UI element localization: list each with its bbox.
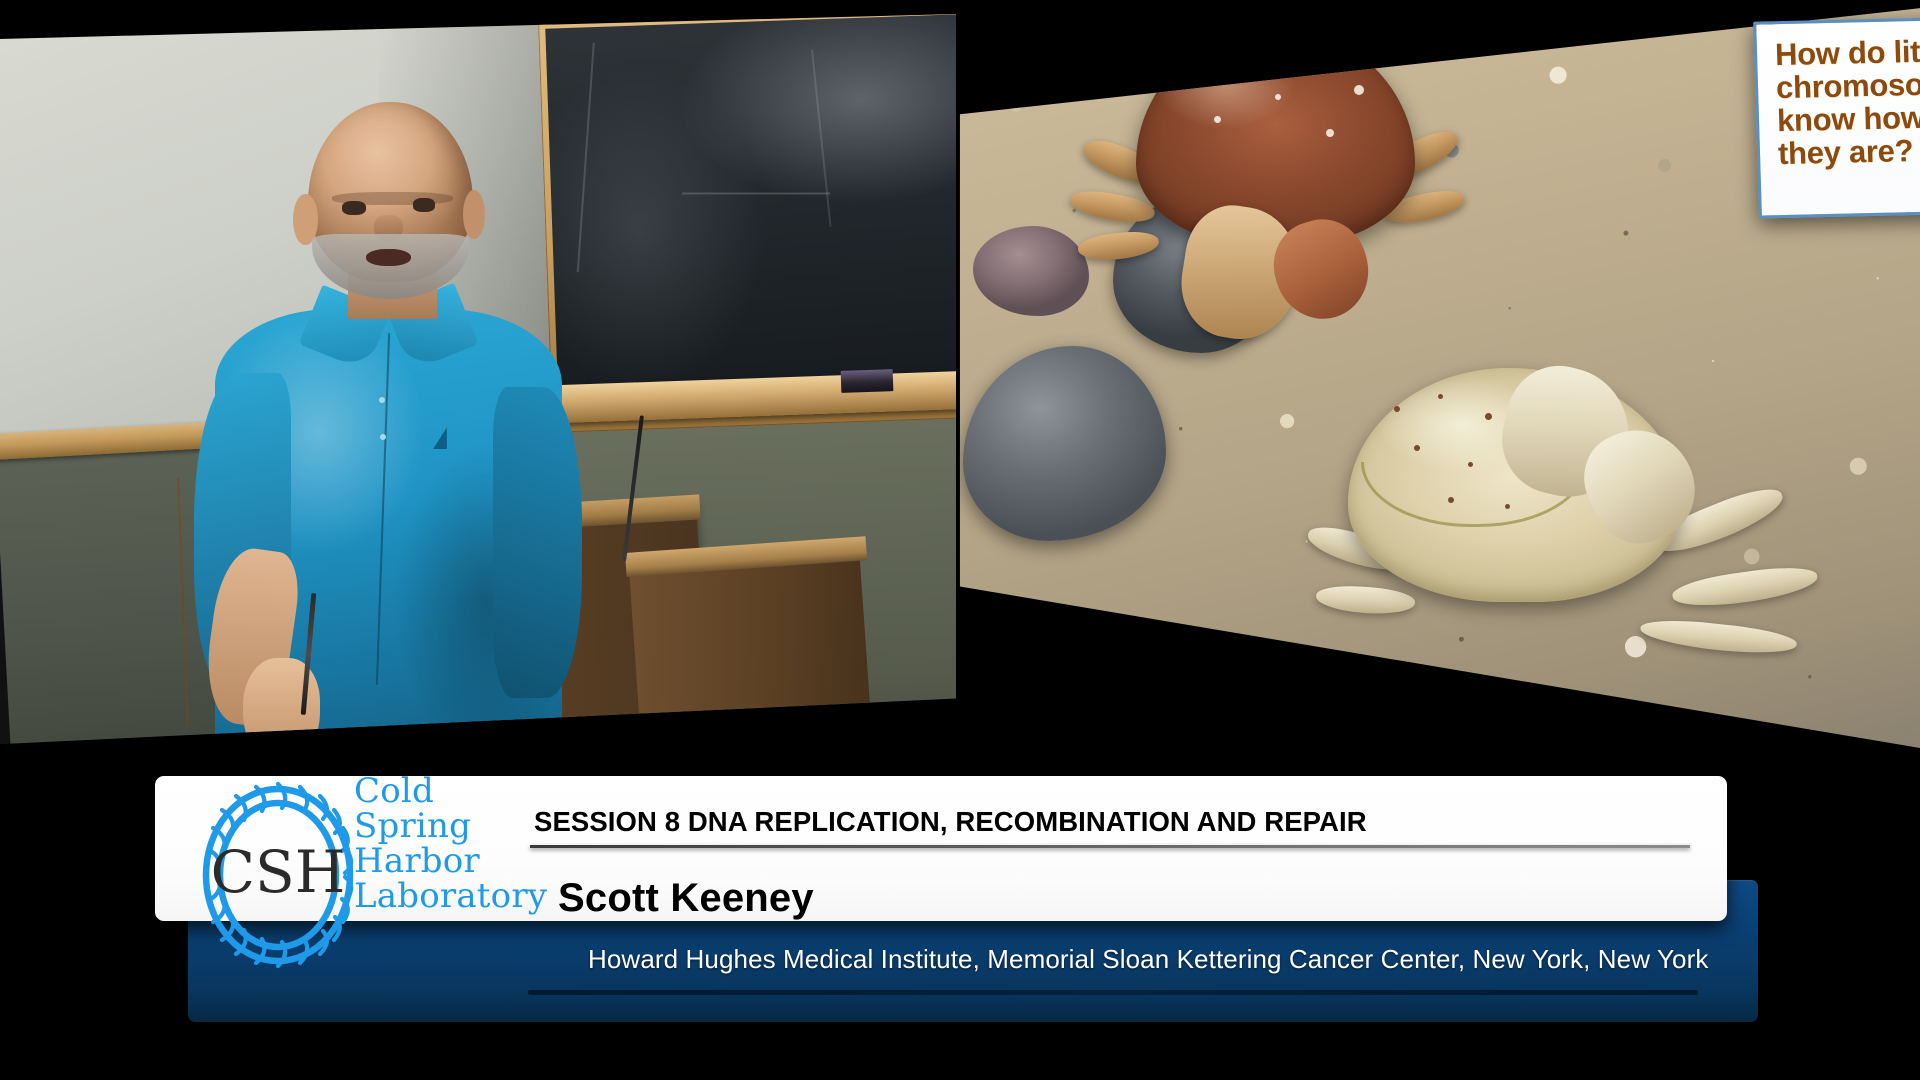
speaker-camera-panel[interactable] xyxy=(0,14,956,750)
presenter-mouth xyxy=(366,249,410,267)
slide-question-callout: How do litt chromoso know how they are? xyxy=(1753,14,1920,218)
speaker-affiliation: Howard Hughes Medical Institute, Memoria… xyxy=(588,944,1708,975)
presenter-figure xyxy=(186,102,590,750)
shell-bump xyxy=(1214,116,1221,123)
crab-leg xyxy=(1315,583,1416,616)
crab-leg xyxy=(1670,561,1819,611)
shell-spot xyxy=(1485,413,1492,420)
cshl-wordmark: Cold Spring Harbor Laboratory xyxy=(354,774,524,914)
lecture-hall-scene xyxy=(0,14,956,750)
shirt-button xyxy=(379,397,385,403)
cshl-wordmark-line-1: Cold xyxy=(354,774,524,809)
chalk-eraser xyxy=(840,369,893,393)
shell-bump xyxy=(1354,85,1364,95)
chalk-smudge xyxy=(682,193,830,195)
dna-helix-ring-icon: CSH xyxy=(178,780,378,970)
shell-bump xyxy=(1326,129,1334,137)
presenter-ear xyxy=(463,190,485,239)
shell-spot xyxy=(1448,497,1454,503)
shell-bump xyxy=(1303,59,1311,67)
presenter-eye xyxy=(342,201,366,215)
video-frame: How do litt chromoso know how they are? … xyxy=(0,0,1920,1080)
second-podium xyxy=(629,554,877,750)
chalk-smudge xyxy=(810,50,831,227)
shell-bump xyxy=(1181,68,1188,75)
cshl-mark-text: CSH xyxy=(211,838,346,906)
brown-crab xyxy=(1074,15,1461,346)
shell-spot xyxy=(1414,445,1420,451)
session-title: SESSION 8 DNA REPLICATION, RECOMBINATION… xyxy=(534,806,1694,838)
cshl-wordmark-line-2: Spring xyxy=(354,809,524,844)
slide-question-text: How do litt chromoso know how they are? xyxy=(1775,31,1920,170)
chalkboard xyxy=(545,14,956,400)
shell-spot xyxy=(1438,394,1443,399)
speaker-name: Scott Keeney xyxy=(558,876,814,921)
shell-spot xyxy=(1394,406,1400,412)
shell-bump xyxy=(1275,94,1281,100)
pale-spotted-crab xyxy=(1316,353,1839,729)
shell-spot xyxy=(1468,462,1473,467)
cshl-wordmark-line-4: Laboratory xyxy=(354,879,524,914)
presenter-eye xyxy=(413,198,436,212)
presenter-right-arm xyxy=(493,387,582,698)
shell-bump xyxy=(1242,48,1251,57)
cshl-logo[interactable]: CSH Cold Spring Harbor Laboratory xyxy=(178,780,508,970)
cshl-wordmark-line-3: Harbor xyxy=(354,844,524,879)
shirt-button xyxy=(380,434,386,440)
crab-leg xyxy=(1077,229,1161,264)
chalkboard-frame xyxy=(538,14,956,433)
crab-leg xyxy=(1639,616,1798,659)
crab-carapace xyxy=(1136,28,1415,246)
shell-spot xyxy=(1505,504,1510,509)
